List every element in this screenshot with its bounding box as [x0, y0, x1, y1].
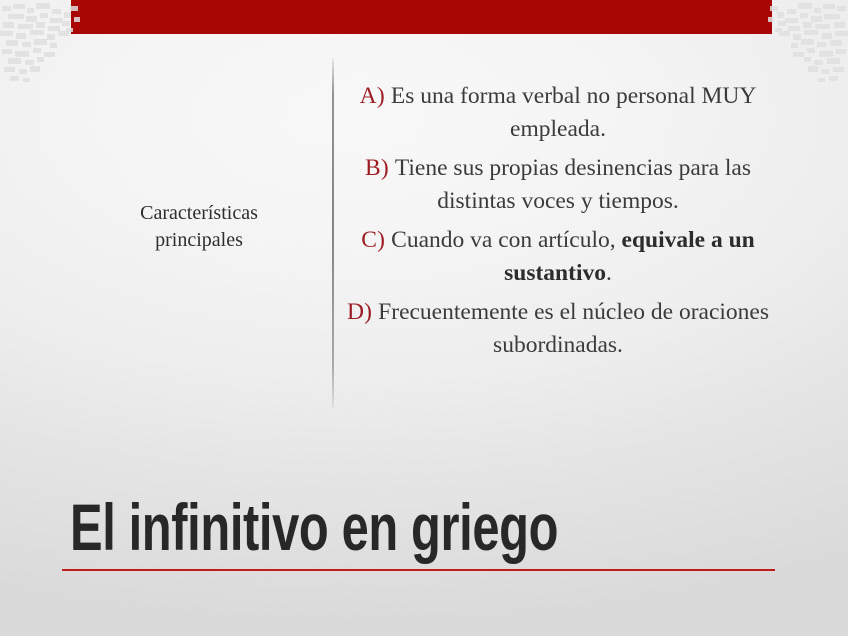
list-marker-d: D) [347, 299, 372, 325]
slide-title: El infinitivo en griego [70, 491, 558, 563]
title-underline-rule [62, 569, 775, 571]
list-item: D)Frecuentemente es el núcleo de oracion… [344, 296, 772, 362]
list-text-c: Cuando va con artículo, [391, 227, 621, 253]
characteristics-list: A)Es una forma verbal no personal MUY em… [344, 80, 772, 368]
left-caption-line-2: principales [92, 227, 306, 254]
list-marker-b: B) [365, 155, 389, 181]
list-marker-c: C) [361, 227, 385, 253]
list-item: B)Tiene sus propias desinencias para las… [344, 152, 772, 218]
list-text-b: Tiene sus propias desinencias para las d… [395, 155, 751, 214]
list-item: C)Cuando va con artículo, equivale a un … [344, 224, 772, 290]
vertical-divider [332, 58, 334, 408]
left-caption: Características principales [92, 200, 306, 254]
top-red-banner [71, 0, 772, 34]
left-caption-line-1: Características [92, 200, 306, 227]
list-item: A)Es una forma verbal no personal MUY em… [344, 80, 772, 146]
list-text-d: Frecuentemente es el núcleo de oraciones… [378, 299, 769, 358]
list-marker-a: A) [360, 83, 385, 109]
presentation-slide: Características principales A)Es una for… [0, 0, 848, 636]
list-text-a: Es una forma verbal no personal MUY empl… [391, 83, 756, 142]
list-text-c-tail: . [606, 260, 612, 286]
